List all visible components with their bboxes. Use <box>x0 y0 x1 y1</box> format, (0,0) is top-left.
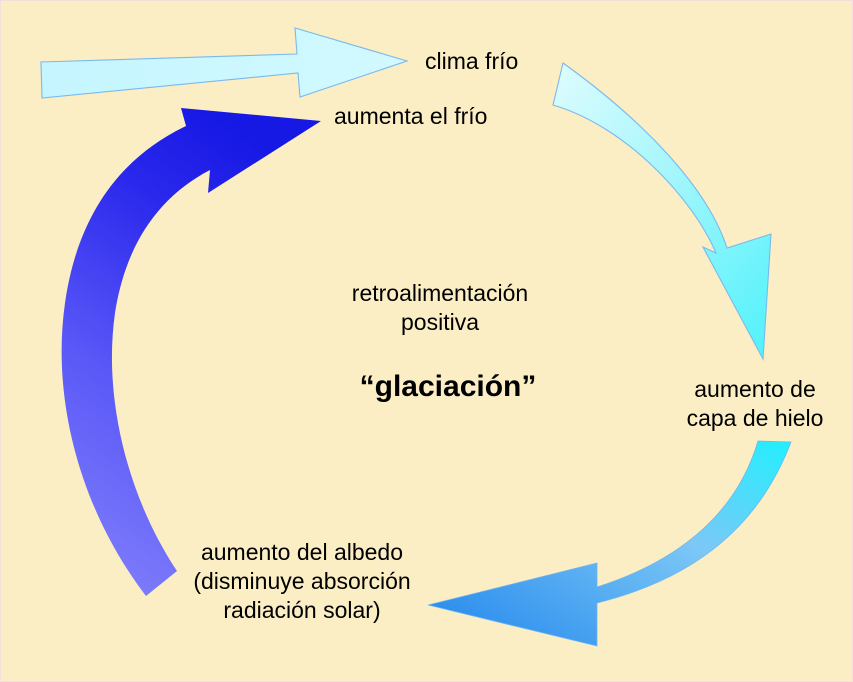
arrow-albedo-to-aumenta-frio <box>62 108 321 596</box>
node-label-aumento-del-albedo: aumento del albedo (disminuye absorción … <box>181 538 423 625</box>
center-subtitle-retroalimentacion-positiva: retroalimentación positiva <box>339 279 541 337</box>
node-label-aumenta-el-frio: aumenta el frío <box>334 102 487 131</box>
diagram-canvas: clima frío aumenta el frío retroalimenta… <box>0 0 853 682</box>
arrow-clima-frio-to-capa-hielo <box>553 63 771 359</box>
node-label-clima-frio: clima frío <box>425 47 518 76</box>
arrow-capa-hielo-to-albedo <box>428 441 791 646</box>
node-label-aumento-capa-de-hielo: aumento de capa de hielo <box>677 375 833 433</box>
center-title-glaciacion: “glaciación” <box>319 369 577 405</box>
arrow-to-clima-frio <box>41 28 407 98</box>
